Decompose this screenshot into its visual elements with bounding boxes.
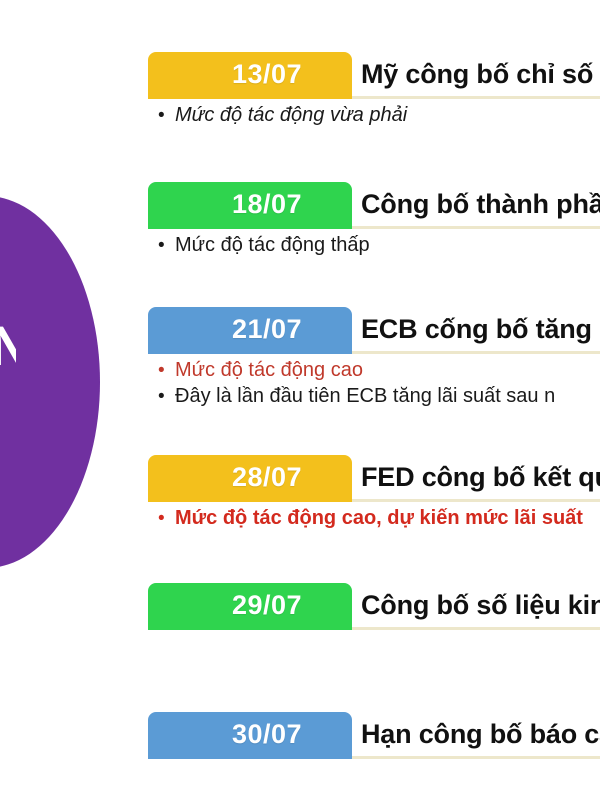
timeline-row-header: 13/07Mỹ công bố chỉ số C [148,52,600,96]
event-title: Công bố thành phần [352,182,600,226]
row-underline [148,499,600,502]
timeline-row-header: 29/07Công bố số liệu kinh [148,583,600,627]
row-underline [148,627,600,630]
event-title: Hạn công bố báo cá [352,712,600,756]
bullet-dot-icon: • [158,106,175,125]
date-badge-label: 29/07 [232,592,302,619]
row-underline-badge-segment [148,226,352,229]
timeline-row[interactable]: 29/07Công bố số liệu kinh [148,583,600,627]
date-badge[interactable]: 21/07 [148,307,352,351]
date-badge[interactable]: 30/07 [148,712,352,756]
bullet-dot-icon: • [158,236,175,255]
row-underline [148,351,600,354]
date-badge[interactable]: 29/07 [148,583,352,627]
bullet-text: Mức độ tác động vừa phải [175,102,407,128]
bullet-item: •Mức độ tác động thấp [158,232,600,258]
date-badge-label: 13/07 [232,61,302,88]
row-underline-badge-segment [148,96,352,99]
timeline-row[interactable]: 13/07Mỹ công bố chỉ số C•Mức độ tác động… [148,52,600,96]
row-underline-rest-segment [352,351,600,354]
event-title: Mỹ công bố chỉ số C [352,52,600,96]
row-underline-rest-segment [352,96,600,99]
event-title: Công bố số liệu kinh [352,583,600,627]
timeline-list: 13/07Mỹ công bố chỉ số C•Mức độ tác động… [148,0,600,800]
bullet-text: Mức độ tác động cao, dự kiến mức lãi suấ… [175,505,583,531]
bullet-item: •Mức độ tác động cao [158,357,600,383]
bullet-item: •Mức độ tác động cao, dự kiến mức lãi su… [158,505,600,531]
row-underline-rest-segment [352,226,600,229]
bullet-dot-icon: • [158,387,175,406]
row-underline-rest-segment [352,499,600,502]
timeline-row[interactable]: 28/07FED công bố kết quả•Mức độ tác động… [148,455,600,499]
row-underline-badge-segment [148,499,352,502]
timeline-row-header: 21/07ECB cống bố tăng lãi [148,307,600,351]
date-badge-label: 21/07 [232,316,302,343]
date-badge[interactable]: 18/07 [148,182,352,226]
bullet-item: •Mức độ tác động vừa phải [158,102,600,128]
row-underline-badge-segment [148,351,352,354]
bullet-item: •Đây là lần đầu tiên ECB tăng lãi suất s… [158,383,600,409]
bullet-list: •Mức độ tác động vừa phải [158,102,600,128]
bullet-text: Đây là lần đầu tiên ECB tăng lãi suất sa… [175,383,555,409]
date-badge[interactable]: 13/07 [148,52,352,96]
row-underline-rest-segment [352,627,600,630]
timeline-row-header: 18/07Công bố thành phần [148,182,600,226]
timeline-row[interactable]: 18/07Công bố thành phần•Mức độ tác động … [148,182,600,226]
event-title: FED công bố kết quả [352,455,600,499]
row-underline [148,226,600,229]
bullet-dot-icon: • [158,509,175,528]
event-title: ECB cống bố tăng lãi [352,307,600,351]
purple-circle-label: N [0,318,16,374]
row-underline-badge-segment [148,627,352,630]
timeline-row[interactable]: 21/07ECB cống bố tăng lãi•Mức độ tác độn… [148,307,600,351]
row-underline-badge-segment [148,756,352,759]
date-badge-label: 28/07 [232,464,302,491]
row-underline [148,756,600,759]
date-badge-label: 30/07 [232,721,302,748]
bullet-text: Mức độ tác động cao [175,357,363,383]
timeline-row-header: 28/07FED công bố kết quả [148,455,600,499]
purple-accent-circle [0,196,100,568]
row-underline [148,96,600,99]
date-badge-label: 18/07 [232,191,302,218]
bullet-text: Mức độ tác động thấp [175,232,370,258]
timeline-row-header: 30/07Hạn công bố báo cá [148,712,600,756]
bullet-list: •Mức độ tác động thấp [158,232,600,258]
bullet-dot-icon: • [158,361,175,380]
bullet-list: •Mức độ tác động cao•Đây là lần đầu tiên… [158,357,600,410]
timeline-row[interactable]: 30/07Hạn công bố báo cá [148,712,600,756]
row-underline-rest-segment [352,756,600,759]
bullet-list: •Mức độ tác động cao, dự kiến mức lãi su… [158,505,600,531]
date-badge[interactable]: 28/07 [148,455,352,499]
